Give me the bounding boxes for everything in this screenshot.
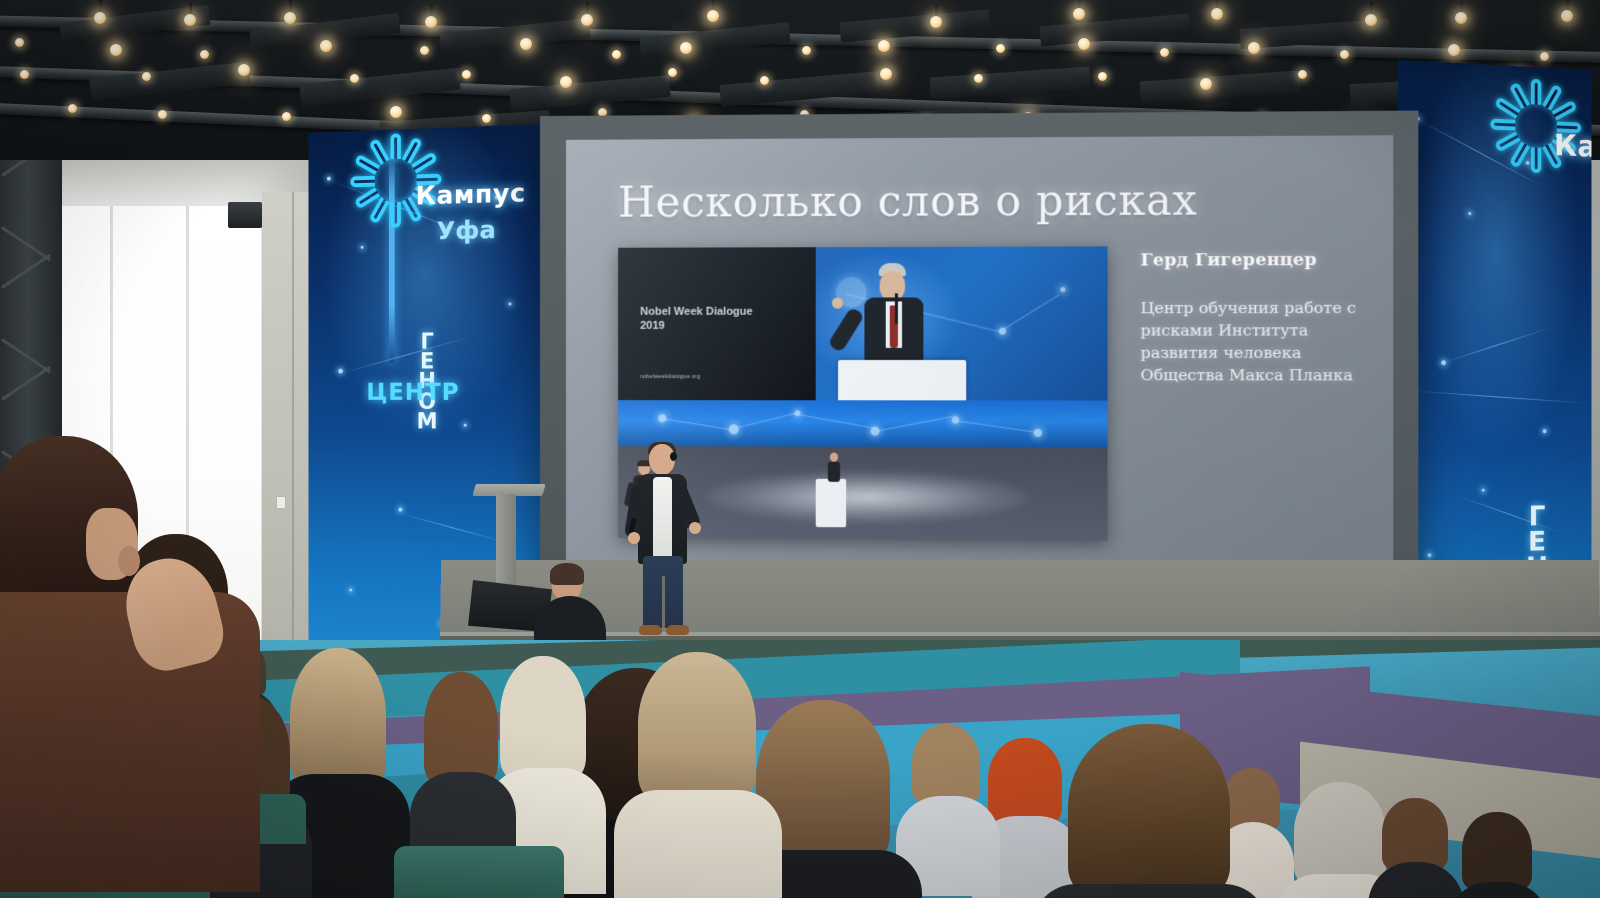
ceiling-spotlight <box>142 72 151 81</box>
ceiling-spotlight <box>200 50 209 59</box>
ceiling-spotlight <box>68 104 77 113</box>
ceiling-spotlight <box>707 10 719 22</box>
ceiling-spotlight <box>680 42 692 54</box>
media-top-half: Nobel Week Dialogue 2019 nobelweekdialog… <box>618 246 1107 400</box>
ceiling-spotlight <box>158 110 167 119</box>
ceiling-spotlight <box>238 64 250 76</box>
podium <box>838 360 966 400</box>
ceiling-spotlight <box>880 68 892 80</box>
ceiling-spotlight <box>802 46 811 55</box>
ceiling-spotlight <box>930 16 942 28</box>
ceiling-spotlight <box>560 76 572 88</box>
ceiling-spotlight <box>1248 42 1260 54</box>
ceiling-spotlight <box>974 74 983 83</box>
ceiling-spotlight <box>110 44 122 56</box>
sunburst-icon <box>340 155 452 273</box>
ceiling-spotlight <box>462 70 471 79</box>
ceiling-spotlight <box>878 40 890 52</box>
ceiling-spotlight <box>1098 72 1107 81</box>
auditorium-seat <box>394 846 564 898</box>
ceiling-spotlight <box>184 14 196 26</box>
ceiling-spotlight <box>282 112 291 121</box>
ceiling-spotlight <box>390 106 402 118</box>
slide-title: Несколько слов о рисках <box>618 175 1197 227</box>
nobel-week-title-card: Nobel Week Dialogue 2019 nobelweekdialog… <box>618 247 816 400</box>
ceiling-spotlight <box>1078 38 1090 50</box>
ceiling-spotlight <box>1160 48 1169 57</box>
ceiling-spotlight <box>482 114 491 123</box>
ceiling-spotlight <box>350 74 359 83</box>
logo-text-ufa: Уфа <box>437 215 496 245</box>
video-still-gigerenzer <box>816 246 1108 400</box>
ceiling-spotlight <box>1561 10 1573 22</box>
logo-text-kampus-right: Ка <box>1554 129 1591 165</box>
presenter-leg-gap <box>662 576 665 628</box>
presenter-right-hand <box>689 522 701 534</box>
stage-floor-glow <box>705 470 1028 523</box>
ceiling-spotlight <box>996 44 1005 53</box>
ceiling-spotlight <box>1448 44 1460 56</box>
nobel-week-caption: nobelweekdialogue.org <box>640 374 700 380</box>
ceiling-spotlight <box>1073 8 1085 20</box>
presenter-on-stage <box>626 444 702 640</box>
centr-horizontal-text: ЦЕНТР <box>366 378 459 406</box>
slide-speaker-name: Герд Гигеренцер <box>1141 250 1379 271</box>
ceiling-spotlight <box>1540 52 1549 61</box>
ceiling-spotlight <box>612 50 621 59</box>
slide-text-block: Герд Гигеренцер Центр обучения работе с … <box>1141 250 1379 387</box>
wall-outlet <box>276 496 286 509</box>
ceiling-spotlight <box>668 68 677 77</box>
ceiling-spotlight <box>15 38 24 47</box>
stage-led-backdrop <box>618 400 1107 447</box>
presenter-shirt <box>653 477 672 559</box>
ceiling-spotlight <box>520 38 532 50</box>
ceiling-spotlight <box>284 12 296 24</box>
presenter-right-shoe <box>666 625 689 635</box>
ceiling-spotlight <box>1298 70 1307 79</box>
logo-text-kampus: Кампус <box>416 179 526 212</box>
ceiling-spotlight <box>1365 14 1377 26</box>
presenter-left-shoe <box>639 625 662 635</box>
ceiling-spotlight <box>20 70 29 79</box>
ceiling-spotlight <box>420 46 429 55</box>
ceiling-spotlight <box>425 16 437 28</box>
ceiling-spotlight <box>581 14 593 26</box>
conference-hall-photo: Кампус Уфа ГЕНОМ ЦЕНТР <box>0 0 1600 898</box>
ceiling-spotlight <box>1200 78 1212 90</box>
ceiling-spotlight <box>1340 50 1349 59</box>
presenter-left-hand <box>628 532 640 544</box>
ceiling-projector <box>228 202 262 228</box>
slide-affiliation: Центр обучения работе с рисками Институт… <box>1141 297 1379 387</box>
ceiling-spotlight <box>1211 8 1223 20</box>
ceiling-spotlight <box>320 40 332 52</box>
mini-podium <box>816 479 846 527</box>
ceiling-spotlight <box>760 76 769 85</box>
ceiling-spotlight <box>1455 12 1467 24</box>
nobel-week-label: Nobel Week Dialogue 2019 <box>640 306 752 334</box>
ceiling-spotlight <box>94 12 106 24</box>
headset-mic-icon <box>670 452 677 461</box>
